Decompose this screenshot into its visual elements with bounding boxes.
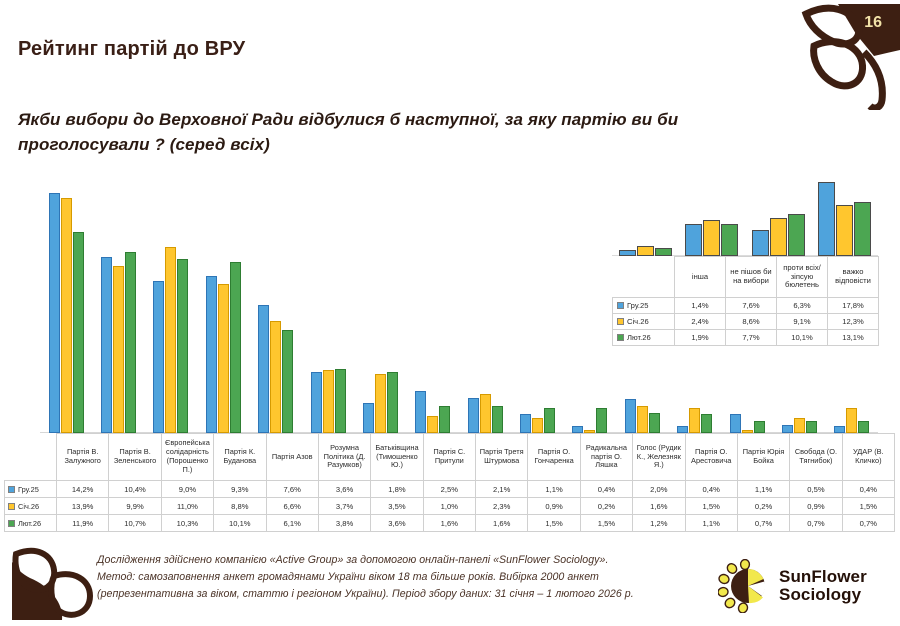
bar-2 <box>637 406 648 433</box>
bar-group <box>302 180 354 433</box>
data-cell: 0,4% <box>580 481 632 498</box>
bar-1 <box>311 372 322 433</box>
column-header: УДАР (В. Кличко) <box>842 434 894 481</box>
bar-2 <box>375 374 386 433</box>
data-cell: 1,8% <box>371 481 423 498</box>
series-legend-1: Гру.25 <box>5 481 57 498</box>
bar-3 <box>230 262 241 433</box>
bar-2 <box>532 418 543 433</box>
bar-3 <box>125 252 136 433</box>
bar-1 <box>468 398 479 433</box>
column-header: Партія О. Арестовича <box>685 434 737 481</box>
bar-2 <box>165 247 176 433</box>
inset-bar-3 <box>721 224 738 256</box>
sunflower-sociology-logo: SunFlower Sociology <box>718 556 894 616</box>
data-cell: 2,5% <box>423 481 475 498</box>
bar-2 <box>61 198 72 433</box>
column-header: Партія Азов <box>266 434 318 481</box>
data-cell: 13,1% <box>828 330 879 346</box>
column-header: Партія Юрія Бойка <box>737 434 789 481</box>
bar-group <box>197 180 249 433</box>
bar-2 <box>846 408 857 433</box>
data-cell: 7,6% <box>266 481 318 498</box>
leaf-decoration <box>6 546 98 624</box>
data-cell: 10,7% <box>109 515 161 532</box>
main-data-table: Партія В. ЗалужногоПартія В. Зеленського… <box>4 433 895 532</box>
bar-3 <box>492 406 503 433</box>
bar-group <box>564 180 616 433</box>
data-cell: 12,3% <box>828 314 879 330</box>
data-cell: 1,5% <box>580 515 632 532</box>
data-cell: 1,2% <box>633 515 685 532</box>
bar-group <box>40 180 92 433</box>
bar-2 <box>323 370 334 433</box>
bar-3 <box>649 413 660 433</box>
bar-1 <box>206 276 217 433</box>
legend-swatch-icon <box>617 334 624 341</box>
methodology-line-2: Метод: самозаповнення анкет громадянами … <box>97 569 707 586</box>
bar-3 <box>596 408 607 433</box>
column-header: Партія С. Притули <box>423 434 475 481</box>
data-cell: 1,5% <box>842 498 894 515</box>
bar-3 <box>858 421 869 433</box>
bar-group <box>250 180 302 433</box>
inset-bar-2 <box>770 218 787 256</box>
inset-bar-group <box>679 178 746 256</box>
data-cell: 9,9% <box>109 498 161 515</box>
bar-3 <box>73 232 84 433</box>
bar-2 <box>480 394 491 433</box>
data-cell: 2,0% <box>633 481 685 498</box>
data-cell: 10,1% <box>214 515 266 532</box>
column-header: важко відповісти <box>828 257 879 298</box>
bar-1 <box>730 414 741 433</box>
inset-bar-2 <box>637 246 654 256</box>
data-cell: 0,4% <box>842 481 894 498</box>
column-header: Партія В. Залужного <box>57 434 109 481</box>
slide-root: 16 Рейтинг партій до ВРУ Якби вибори до … <box>0 0 900 626</box>
data-cell: 17,8% <box>828 298 879 314</box>
data-cell: 0,7% <box>737 515 789 532</box>
inset-bar-1 <box>685 224 702 256</box>
data-cell: 1,6% <box>423 515 475 532</box>
series-legend-3: Лют.26 <box>5 515 57 532</box>
bar-2 <box>113 266 124 433</box>
column-header: проти всіх/зіпсую бюлетень <box>777 257 828 298</box>
data-cell: 3,7% <box>318 498 370 515</box>
data-cell: 0,9% <box>790 498 842 515</box>
column-header: Партія Третя Штурмова <box>476 434 528 481</box>
bar-2 <box>794 418 805 433</box>
question-subtitle: Якби вибори до Верховної Ради відбулися … <box>18 108 808 157</box>
data-cell: 11,0% <box>161 498 213 515</box>
data-cell: 9,1% <box>777 314 828 330</box>
inset-bar-1 <box>752 230 769 256</box>
inset-bar-group <box>812 178 879 256</box>
column-header: Партія В. Зеленського <box>109 434 161 481</box>
inset-bar-3 <box>788 214 805 256</box>
logo-line-2: Sociology <box>779 586 867 604</box>
legend-swatch-icon <box>8 486 15 493</box>
data-cell: 0,9% <box>528 498 580 515</box>
data-cell: 0,5% <box>790 481 842 498</box>
bar-1 <box>101 257 112 433</box>
bar-1 <box>572 426 583 433</box>
bar-3 <box>754 421 765 433</box>
table-row: Гру.2514,2%10,4%9,0%9,3%7,6%3,6%1,8%2,5%… <box>5 481 895 498</box>
legend-swatch-icon <box>8 503 15 510</box>
data-cell: 13,9% <box>57 498 109 515</box>
bar-3 <box>282 330 293 433</box>
bar-1 <box>363 403 374 433</box>
data-cell: 3,8% <box>318 515 370 532</box>
series-legend-2: Січ.26 <box>5 498 57 515</box>
data-cell: 9,0% <box>161 481 213 498</box>
data-cell: 0,4% <box>685 481 737 498</box>
bar-3 <box>335 369 346 433</box>
data-cell: 7,6% <box>726 298 777 314</box>
bar-3 <box>439 406 450 433</box>
data-cell: 1,1% <box>528 481 580 498</box>
logo-line-1: SunFlower <box>779 568 867 586</box>
methodology-line-3: (репрезентативна за віком, статтю і регі… <box>97 586 707 603</box>
data-cell: 2,4% <box>675 314 726 330</box>
inset-bar-group <box>745 178 812 256</box>
column-header: Свобода (О. Тягнибок) <box>790 434 842 481</box>
data-cell: 14,2% <box>57 481 109 498</box>
data-cell: 10,3% <box>161 515 213 532</box>
data-cell: 10,1% <box>777 330 828 346</box>
corner-decoration <box>800 0 900 110</box>
bar-3 <box>387 372 398 433</box>
data-cell: 6,6% <box>266 498 318 515</box>
bar-1 <box>677 426 688 433</box>
column-header: Радикальна партія О. Ляшка <box>580 434 632 481</box>
table-row: Лют.261,9%7,7%10,1%13,1% <box>613 330 879 346</box>
bar-group <box>145 180 197 433</box>
series-legend-1: Гру.25 <box>613 298 675 314</box>
column-header: Голос (Рудик К., Железняк Я.) <box>633 434 685 481</box>
data-cell: 1,4% <box>675 298 726 314</box>
inset-data-table: іншане пішов би на виборипроти всіх/зіпс… <box>612 256 879 346</box>
bar-3 <box>544 408 555 433</box>
bar-2 <box>218 284 229 433</box>
data-cell: 9,3% <box>214 481 266 498</box>
bar-group <box>354 180 406 433</box>
bar-2 <box>270 321 281 433</box>
bar-2 <box>427 416 438 433</box>
inset-bar-group <box>612 178 679 256</box>
bar-group <box>92 180 144 433</box>
data-cell: 8,8% <box>214 498 266 515</box>
series-legend-2: Січ.26 <box>613 314 675 330</box>
legend-swatch-icon <box>8 520 15 527</box>
data-cell: 8,6% <box>726 314 777 330</box>
data-cell: 0,2% <box>737 498 789 515</box>
data-cell: 10,4% <box>109 481 161 498</box>
column-header: Батьківщина (Тимошенко Ю.) <box>371 434 423 481</box>
inset-bar-3 <box>854 202 871 256</box>
data-cell: 6,3% <box>777 298 828 314</box>
data-cell: 1,1% <box>737 481 789 498</box>
data-cell: 0,7% <box>790 515 842 532</box>
table-row: Січ.2613,9%9,9%11,0%8,8%6,6%3,7%3,5%1,0%… <box>5 498 895 515</box>
bar-3 <box>806 421 817 433</box>
column-header: Партія К. Буданова <box>214 434 266 481</box>
sunflower-icon <box>718 559 772 613</box>
data-cell: 1,1% <box>685 515 737 532</box>
inset-bar-2 <box>703 220 720 256</box>
column-header: Розумна Політика (Д. Разумков) <box>318 434 370 481</box>
data-cell: 7,7% <box>726 330 777 346</box>
methodology-note: Дослідження здійснено компанією «Active … <box>97 552 707 603</box>
data-cell: 1,0% <box>423 498 475 515</box>
data-cell: 2,3% <box>476 498 528 515</box>
table-row: Січ.262,4%8,6%9,1%12,3% <box>613 314 879 330</box>
data-cell: 2,1% <box>476 481 528 498</box>
data-cell: 1,5% <box>528 515 580 532</box>
bar-1 <box>415 391 426 433</box>
bar-1 <box>258 305 269 433</box>
column-header: не пішов би на вибори <box>726 257 777 298</box>
data-cell: 3,6% <box>371 515 423 532</box>
inset-bar-plot <box>612 178 878 256</box>
inset-bar-3 <box>655 248 672 256</box>
bar-1 <box>834 426 845 433</box>
table-row: Гру.251,4%7,6%6,3%17,8% <box>613 298 879 314</box>
bar-1 <box>625 399 636 433</box>
data-cell: 0,7% <box>842 515 894 532</box>
column-header: Партія О. Гончаренка <box>528 434 580 481</box>
data-cell: 3,5% <box>371 498 423 515</box>
bar-group <box>511 180 563 433</box>
methodology-line-1: Дослідження здійснено компанією «Active … <box>97 552 707 569</box>
legend-swatch-icon <box>617 318 624 325</box>
bar-1 <box>520 414 531 433</box>
series-legend-3: Лют.26 <box>613 330 675 346</box>
page-number: 16 <box>864 14 882 32</box>
inset-bar-2 <box>836 205 853 256</box>
data-cell: 1,6% <box>476 515 528 532</box>
data-cell: 6,1% <box>266 515 318 532</box>
page-title: Рейтинг партій до ВРУ <box>18 38 245 61</box>
legend-swatch-icon <box>617 302 624 309</box>
data-cell: 3,6% <box>318 481 370 498</box>
bar-1 <box>49 193 60 433</box>
data-cell: 11,9% <box>57 515 109 532</box>
bar-3 <box>177 259 188 433</box>
column-header: інша <box>675 257 726 298</box>
data-cell: 1,9% <box>675 330 726 346</box>
inset-bar-1 <box>818 182 835 256</box>
data-cell: 0,2% <box>580 498 632 515</box>
bar-1 <box>153 281 164 433</box>
bar-2 <box>689 408 700 433</box>
table-corner-cell <box>613 257 675 298</box>
bar-3 <box>701 414 712 433</box>
data-cell: 1,6% <box>633 498 685 515</box>
bar-group <box>459 180 511 433</box>
bar-group <box>407 180 459 433</box>
column-header: Європейська солідарність (Порошенко П.) <box>161 434 213 481</box>
bar-1 <box>782 425 793 433</box>
data-cell: 1,5% <box>685 498 737 515</box>
table-corner-cell <box>5 434 57 481</box>
table-row: Лют.2611,9%10,7%10,3%10,1%6,1%3,8%3,6%1,… <box>5 515 895 532</box>
